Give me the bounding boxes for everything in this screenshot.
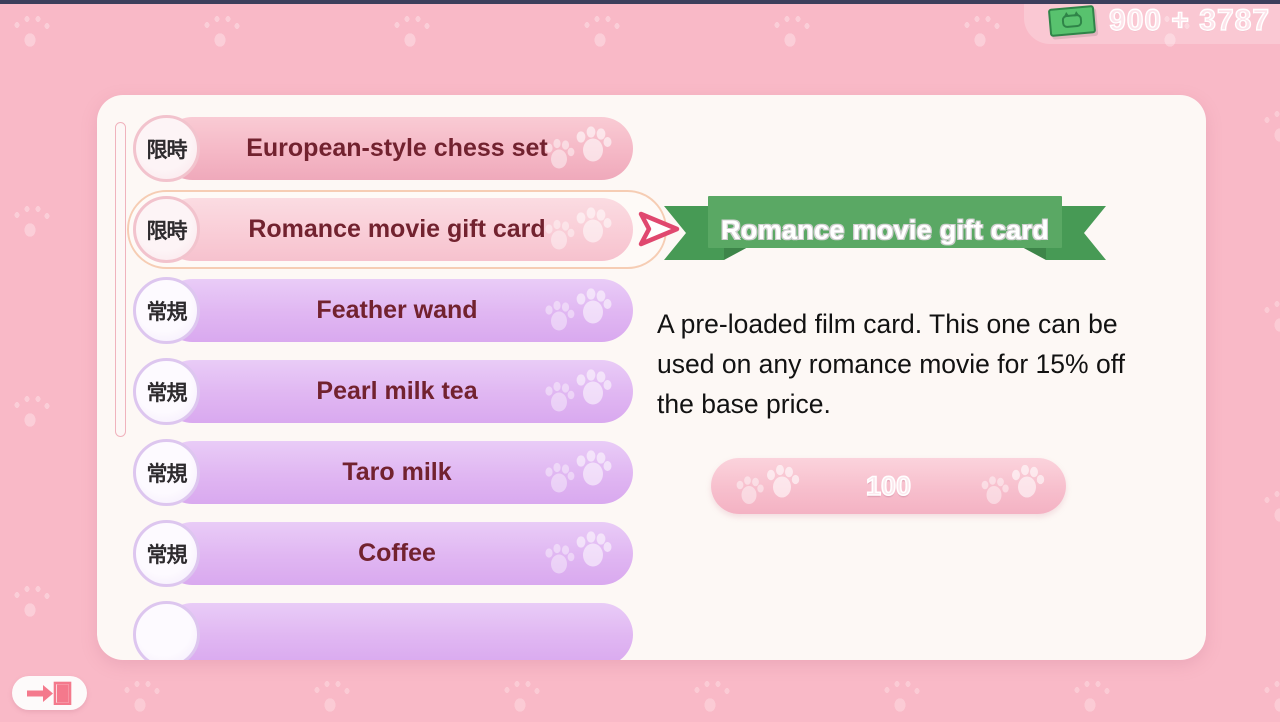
currency-hud: 900 + 3787 — [1049, 4, 1270, 38]
item-description: A pre-loaded film card. This one can be … — [657, 304, 1137, 424]
list-item-badge-text: 限時 — [147, 215, 187, 245]
list-item[interactable]: Pearl milk tea 常規 — [133, 360, 633, 423]
list-item-label: Romance movie gift card — [248, 215, 545, 244]
list-item[interactable]: European-style chess set 限時 — [133, 117, 633, 180]
list-item-pill[interactable] — [161, 603, 633, 660]
item-title-ribbon: Romance movie gift card — [664, 190, 1106, 270]
list-item[interactable]: Taro milk 常規 — [133, 441, 633, 504]
shop-item-list-column: European-style chess set 限時 — [97, 95, 657, 660]
selection-arrow-icon — [637, 210, 681, 248]
paw-print-icon — [537, 531, 613, 577]
list-item[interactable]: Coffee 常規 — [133, 522, 633, 585]
list-item-label: Taro milk — [342, 458, 451, 487]
paw-print-icon — [537, 207, 613, 253]
list-item-badge-text: 常規 — [147, 296, 187, 326]
paw-print-icon — [537, 288, 613, 334]
list-item-badge: 常規 — [133, 439, 200, 506]
list-scrollbar[interactable] — [115, 122, 126, 642]
list-item-label: Feather wand — [316, 296, 477, 325]
shop-item-list: European-style chess set 限時 — [133, 117, 633, 660]
list-item-label: Coffee — [358, 539, 436, 568]
currency-amount: 900 + 3787 — [1109, 4, 1270, 38]
list-item-pill[interactable]: Romance movie gift card — [161, 198, 633, 261]
list-scrollbar-thumb[interactable] — [115, 122, 126, 437]
list-item-badge-text: 常規 — [147, 458, 187, 488]
paw-print-icon — [537, 126, 613, 172]
list-item-badge-text: 常規 — [147, 539, 187, 569]
exit-door-icon — [25, 681, 75, 705]
price-amount: 100 — [866, 471, 911, 502]
list-item-pill[interactable]: European-style chess set — [161, 117, 633, 180]
list-item-badge: 常規 — [133, 358, 200, 425]
paw-print-icon — [537, 369, 613, 415]
exit-button[interactable] — [12, 676, 87, 710]
list-item-pill[interactable]: Coffee — [161, 522, 633, 585]
game-shop-screen: 900 + 3787 — [0, 0, 1280, 722]
list-item-selected[interactable]: Romance movie gift card 限時 — [133, 198, 633, 261]
paw-print-icon — [729, 465, 803, 507]
list-item-partial[interactable] — [133, 603, 633, 660]
paw-print-icon — [537, 450, 613, 496]
item-detail-column: Romance movie gift card A pre-loaded fil… — [657, 95, 1206, 660]
list-item-badge: 限時 — [133, 115, 200, 182]
list-item-label: Pearl milk tea — [316, 377, 477, 406]
shop-panel: European-style chess set 限時 — [97, 95, 1206, 660]
list-item[interactable]: Feather wand 常規 — [133, 279, 633, 342]
buy-price-button[interactable]: 100 — [711, 458, 1066, 514]
list-item-pill[interactable]: Pearl milk tea — [161, 360, 633, 423]
list-item-pill[interactable]: Feather wand — [161, 279, 633, 342]
list-item-badge-text: 常規 — [147, 377, 187, 407]
paw-print-icon — [974, 465, 1048, 507]
list-item-badge — [133, 601, 200, 660]
window-top-edge — [0, 0, 1280, 4]
list-item-badge: 常規 — [133, 520, 200, 587]
list-item-badge: 限時 — [133, 196, 200, 263]
list-item-label: European-style chess set — [246, 134, 548, 163]
list-item-badge: 常規 — [133, 277, 200, 344]
item-title: Romance movie gift card — [664, 190, 1106, 270]
banknote-icon — [1048, 5, 1096, 37]
list-item-badge-text: 限時 — [147, 134, 187, 164]
list-item-pill[interactable]: Taro milk — [161, 441, 633, 504]
